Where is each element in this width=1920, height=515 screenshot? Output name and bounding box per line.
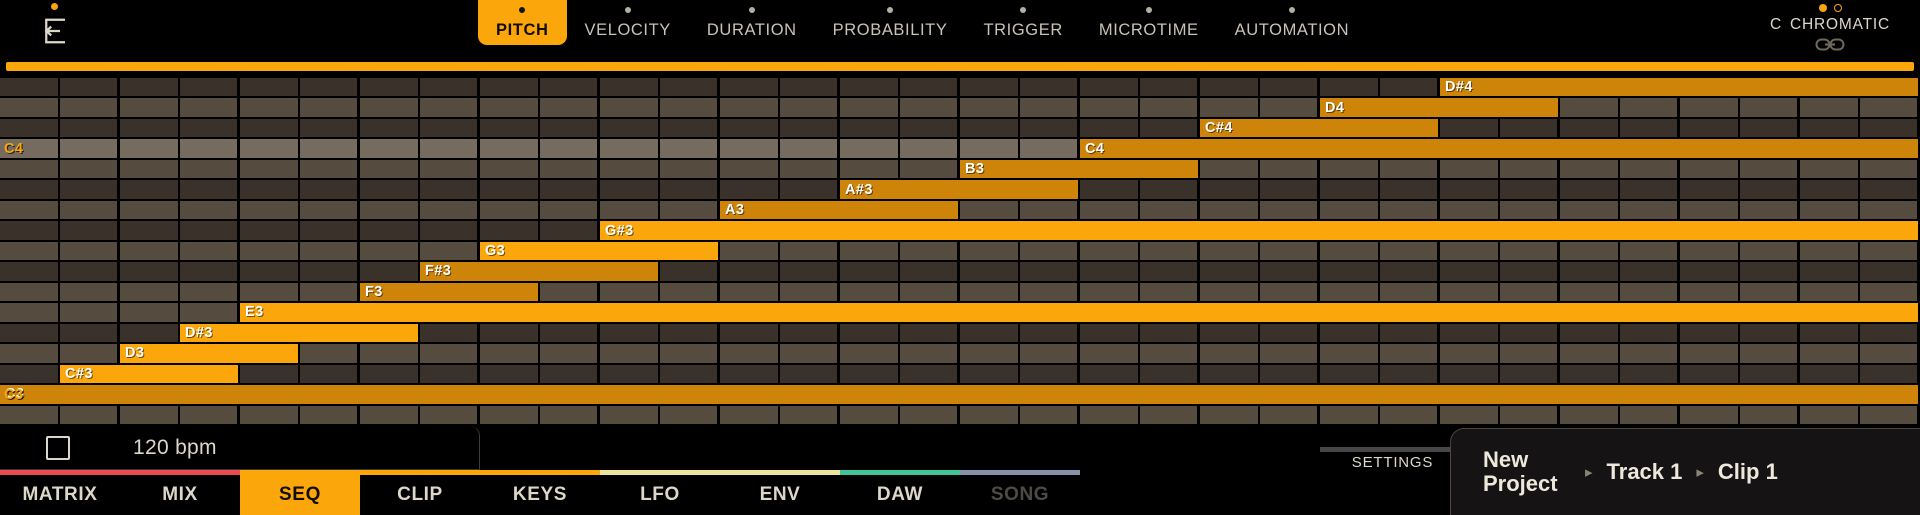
grid-cell[interactable] [660, 160, 721, 180]
note-block[interactable]: C#3 [60, 365, 238, 385]
grid-cell[interactable] [0, 406, 60, 426]
playhead-progress[interactable] [6, 62, 1914, 71]
grid-cell[interactable] [60, 98, 121, 118]
grid-cell[interactable] [1080, 344, 1140, 364]
grid-cell[interactable] [1020, 139, 1081, 159]
grid-cell[interactable] [1620, 180, 1681, 200]
grid-cell[interactable] [60, 242, 121, 262]
grid-cell[interactable] [1740, 324, 1801, 344]
grid-cell[interactable] [1200, 78, 1260, 98]
mode-tab-matrix[interactable]: MATRIX [0, 475, 120, 515]
grid-cell[interactable] [1020, 242, 1081, 262]
grid-cell[interactable] [960, 406, 1020, 426]
grid-cell[interactable] [960, 324, 1020, 344]
grid-cell[interactable] [1020, 78, 1081, 98]
grid-cell[interactable] [1560, 344, 1620, 364]
grid-cell[interactable] [420, 139, 481, 159]
grid-cell[interactable] [1080, 242, 1140, 262]
grid-cell[interactable] [60, 201, 121, 221]
grid-cell[interactable] [240, 365, 300, 385]
grid-row-C3[interactable]: C3C3 [0, 385, 1920, 405]
grid-cell[interactable] [1740, 283, 1801, 303]
grid-cell[interactable] [600, 160, 660, 180]
mode-tab-song[interactable]: SONG [960, 475, 1080, 515]
grid-cell[interactable] [1860, 242, 1920, 262]
grid-cell[interactable] [1260, 242, 1321, 262]
grid-cell[interactable] [360, 78, 420, 98]
grid-cell[interactable] [840, 119, 900, 139]
grid-cell[interactable] [1860, 262, 1920, 282]
grid-cell[interactable] [840, 98, 900, 118]
tab-automation[interactable]: AUTOMATION [1217, 0, 1367, 45]
grid-cell[interactable] [1560, 98, 1620, 118]
grid-cell[interactable] [1200, 262, 1260, 282]
grid-cell[interactable] [120, 160, 180, 180]
grid-cell[interactable] [1860, 283, 1920, 303]
grid-cell[interactable] [240, 406, 300, 426]
grid-cell[interactable] [1440, 365, 1500, 385]
mode-tab-daw[interactable]: DAW [840, 475, 960, 515]
grid-cell[interactable] [480, 201, 540, 221]
grid-cell[interactable] [480, 160, 540, 180]
grid-cell[interactable] [1800, 365, 1860, 385]
grid-cell[interactable] [720, 139, 780, 159]
grid-cell[interactable] [1800, 98, 1860, 118]
grid-cell[interactable] [480, 344, 540, 364]
grid-cell[interactable] [840, 344, 900, 364]
grid-cell[interactable] [0, 98, 60, 118]
grid-cell[interactable] [720, 406, 780, 426]
grid-cell[interactable] [1740, 201, 1801, 221]
grid-cell[interactable] [1320, 201, 1380, 221]
grid-row-B2[interactable] [0, 406, 1920, 426]
note-block[interactable]: D4 [1320, 98, 1558, 118]
grid-cell[interactable] [0, 78, 60, 98]
grid-cell[interactable] [1860, 365, 1920, 385]
grid-cell[interactable] [180, 406, 241, 426]
grid-cell[interactable] [900, 344, 961, 364]
grid-cell[interactable] [960, 139, 1020, 159]
tab-probability[interactable]: PROBABILITY [815, 0, 966, 45]
note-block[interactable]: F#3 [420, 262, 658, 282]
grid-cell[interactable] [0, 139, 60, 159]
grid-cell[interactable] [120, 78, 180, 98]
grid-cell[interactable] [780, 139, 841, 159]
grid-cell[interactable] [1080, 78, 1140, 98]
grid-cell[interactable] [1500, 242, 1561, 262]
grid-cell[interactable] [1260, 160, 1321, 180]
grid-cell[interactable] [0, 160, 60, 180]
grid-cell[interactable] [120, 139, 180, 159]
grid-cell[interactable] [540, 180, 601, 200]
grid-cell[interactable] [1260, 344, 1321, 364]
grid-row-Fsharp3[interactable]: F#3 [0, 262, 1920, 282]
grid-cell[interactable] [900, 283, 961, 303]
grid-cell[interactable] [60, 283, 121, 303]
grid-cell[interactable] [240, 98, 300, 118]
grid-cell[interactable] [1380, 344, 1441, 364]
grid-cell[interactable] [720, 78, 780, 98]
grid-cell[interactable] [1380, 324, 1441, 344]
grid-cell[interactable] [120, 406, 180, 426]
grid-cell[interactable] [420, 406, 481, 426]
grid-cell[interactable] [1320, 344, 1380, 364]
grid-cell[interactable] [1020, 283, 1081, 303]
grid-cell[interactable] [960, 78, 1020, 98]
grid-cell[interactable] [780, 180, 841, 200]
grid-cell[interactable] [1620, 283, 1681, 303]
grid-cell[interactable] [1440, 406, 1500, 426]
tab-velocity[interactable]: VELOCITY [567, 0, 689, 45]
grid-cell[interactable] [360, 180, 420, 200]
note-block[interactable]: C#4 [1200, 119, 1438, 139]
grid-cell[interactable] [660, 283, 721, 303]
grid-cell[interactable] [660, 180, 721, 200]
grid-cell[interactable] [660, 406, 721, 426]
grid-cell[interactable] [240, 221, 300, 241]
grid-cell[interactable] [1200, 160, 1260, 180]
grid-row-Gsharp3[interactable]: G#3 [0, 221, 1920, 241]
grid-cell[interactable] [180, 119, 241, 139]
grid-cell[interactable] [780, 344, 841, 364]
grid-cell[interactable] [1440, 119, 1500, 139]
grid-cell[interactable] [960, 242, 1020, 262]
mode-tab-mix[interactable]: MIX [120, 475, 240, 515]
grid-cell[interactable] [0, 303, 60, 323]
grid-cell[interactable] [1560, 324, 1620, 344]
grid-cell[interactable] [1260, 283, 1321, 303]
grid-cell[interactable] [420, 78, 481, 98]
grid-cell[interactable] [360, 406, 420, 426]
grid-cell[interactable] [1140, 365, 1201, 385]
grid-cell[interactable] [1860, 344, 1920, 364]
grid-cell[interactable] [60, 160, 121, 180]
grid-cell[interactable] [300, 242, 361, 262]
grid-cell[interactable] [180, 262, 241, 282]
grid-cell[interactable] [900, 324, 961, 344]
grid-cell[interactable] [0, 365, 60, 385]
grid-cell[interactable] [1140, 180, 1201, 200]
tab-pitch[interactable]: PITCH [478, 0, 567, 45]
grid-cell[interactable] [540, 160, 601, 180]
grid-cell[interactable] [1020, 98, 1081, 118]
grid-cell[interactable] [1740, 119, 1801, 139]
grid-cell[interactable] [480, 406, 540, 426]
grid-cell[interactable] [720, 119, 780, 139]
grid-cell[interactable] [0, 344, 60, 364]
grid-cell[interactable] [660, 262, 721, 282]
grid-cell[interactable] [780, 160, 841, 180]
grid-cell[interactable] [720, 262, 780, 282]
grid-cell[interactable] [1500, 160, 1561, 180]
grid-cell[interactable] [0, 283, 60, 303]
grid-cell[interactable] [1560, 119, 1620, 139]
grid-cell[interactable] [1680, 324, 1740, 344]
grid-cell[interactable] [1800, 119, 1860, 139]
grid-cell[interactable] [720, 365, 780, 385]
grid-cell[interactable] [540, 324, 601, 344]
grid-cell[interactable] [720, 242, 780, 262]
grid-cell[interactable] [960, 119, 1020, 139]
tab-trigger[interactable]: TRIGGER [965, 0, 1080, 45]
grid-cell[interactable] [480, 78, 540, 98]
grid-cell[interactable] [1800, 201, 1860, 221]
grid-cell[interactable] [900, 242, 961, 262]
grid-cell[interactable] [180, 180, 241, 200]
grid-cell[interactable] [60, 303, 121, 323]
grid-cell[interactable] [840, 160, 900, 180]
grid-cell[interactable] [1200, 242, 1260, 262]
grid-cell[interactable] [1560, 180, 1620, 200]
grid-cell[interactable] [1260, 98, 1321, 118]
mode-tab-clip[interactable]: CLIP [360, 475, 480, 515]
grid-cell[interactable] [360, 160, 420, 180]
grid-cell[interactable] [1740, 344, 1801, 364]
grid-cell[interactable] [1260, 262, 1321, 282]
grid-row-F3[interactable]: F3 [0, 283, 1920, 303]
grid-cell[interactable] [420, 119, 481, 139]
grid-cell[interactable] [1860, 406, 1920, 426]
grid-cell[interactable] [840, 406, 900, 426]
grid-cell[interactable] [1500, 201, 1561, 221]
grid-cell[interactable] [1200, 365, 1260, 385]
grid-cell[interactable] [1320, 242, 1380, 262]
grid-cell[interactable] [1320, 324, 1380, 344]
grid-cell[interactable] [480, 139, 540, 159]
grid-cell[interactable] [540, 98, 601, 118]
grid-cell[interactable] [900, 98, 961, 118]
stop-square-icon[interactable] [46, 436, 70, 460]
grid-cell[interactable] [660, 201, 721, 221]
grid-cell[interactable] [1680, 201, 1740, 221]
grid-cell[interactable] [1740, 180, 1801, 200]
grid-cell[interactable] [1860, 180, 1920, 200]
grid-cell[interactable] [540, 365, 601, 385]
grid-cell[interactable] [780, 78, 841, 98]
grid-cell[interactable] [1440, 160, 1500, 180]
grid-cell[interactable] [300, 98, 361, 118]
grid-cell[interactable] [840, 78, 900, 98]
note-block[interactable]: C3 [0, 385, 1918, 405]
grid-cell[interactable] [0, 201, 60, 221]
grid-cell[interactable] [900, 406, 961, 426]
grid-cell[interactable] [1680, 242, 1740, 262]
grid-cell[interactable] [540, 344, 601, 364]
grid-cell[interactable] [1440, 324, 1500, 344]
grid-cell[interactable] [660, 119, 721, 139]
grid-cell[interactable] [120, 201, 180, 221]
grid-cell[interactable] [780, 406, 841, 426]
grid-cell[interactable] [600, 365, 660, 385]
grid-cell[interactable] [720, 324, 780, 344]
grid-cell[interactable] [180, 98, 241, 118]
grid-cell[interactable] [1560, 406, 1620, 426]
grid-cell[interactable] [1680, 262, 1740, 282]
grid-cell[interactable] [1260, 406, 1321, 426]
grid-cell[interactable] [1620, 98, 1681, 118]
grid-cell[interactable] [600, 78, 660, 98]
grid-cell[interactable] [1620, 262, 1681, 282]
grid-cell[interactable] [1440, 180, 1500, 200]
note-block[interactable]: G#3 [600, 221, 1918, 241]
grid-cell[interactable] [1140, 324, 1201, 344]
grid-cell[interactable] [1620, 365, 1681, 385]
grid-cell[interactable] [1020, 201, 1081, 221]
grid-cell[interactable] [420, 160, 481, 180]
grid-cell[interactable] [1860, 119, 1920, 139]
grid-cell[interactable] [60, 180, 121, 200]
tab-duration[interactable]: DURATION [689, 0, 815, 45]
grid-cell[interactable] [1140, 242, 1201, 262]
grid-cell[interactable] [1080, 324, 1140, 344]
grid-cell[interactable] [1500, 262, 1561, 282]
grid-row-E3[interactable]: E3 [0, 303, 1920, 323]
grid-cell[interactable] [1200, 201, 1260, 221]
grid-cell[interactable] [1680, 344, 1740, 364]
grid-cell[interactable] [300, 78, 361, 98]
grid-cell[interactable] [720, 180, 780, 200]
grid-cell[interactable] [1800, 242, 1860, 262]
grid-cell[interactable] [420, 98, 481, 118]
grid-cell[interactable] [300, 406, 361, 426]
grid-cell[interactable] [1860, 324, 1920, 344]
grid-cell[interactable] [720, 283, 780, 303]
grid-cell[interactable] [1080, 406, 1140, 426]
grid-cell[interactable] [900, 119, 961, 139]
grid-cell[interactable] [1140, 119, 1201, 139]
grid-row-Dsharp3[interactable]: D#3 [0, 324, 1920, 344]
grid-cell[interactable] [1020, 365, 1081, 385]
grid-cell[interactable] [1560, 262, 1620, 282]
grid-cell[interactable] [1380, 406, 1441, 426]
grid-cell[interactable] [1560, 283, 1620, 303]
link-chain-icon[interactable] [1750, 37, 1910, 52]
grid-cell[interactable] [1500, 406, 1561, 426]
grid-cell[interactable] [1080, 201, 1140, 221]
grid-cell[interactable] [1560, 365, 1620, 385]
grid-cell[interactable] [1800, 160, 1860, 180]
grid-cell[interactable] [1080, 283, 1140, 303]
grid-cell[interactable] [420, 365, 481, 385]
grid-cell[interactable] [60, 78, 121, 98]
grid-cell[interactable] [300, 283, 361, 303]
grid-cell[interactable] [1680, 283, 1740, 303]
grid-cell[interactable] [420, 324, 481, 344]
grid-cell[interactable] [720, 160, 780, 180]
grid-cell[interactable] [420, 242, 481, 262]
grid-cell[interactable] [1440, 283, 1500, 303]
grid-cell[interactable] [900, 160, 961, 180]
grid-cell[interactable] [60, 324, 121, 344]
grid-cell[interactable] [1140, 344, 1201, 364]
grid-cell[interactable] [840, 139, 900, 159]
grid-cell[interactable] [600, 324, 660, 344]
grid-cell[interactable] [540, 201, 601, 221]
grid-cell[interactable] [1740, 365, 1801, 385]
grid-cell[interactable] [720, 98, 780, 118]
grid-cell[interactable] [1500, 283, 1561, 303]
grid-cell[interactable] [960, 283, 1020, 303]
grid-cell[interactable] [660, 324, 721, 344]
grid-cell[interactable] [1680, 160, 1740, 180]
grid-cell[interactable] [300, 139, 361, 159]
grid-cell[interactable] [360, 221, 420, 241]
grid-cell[interactable] [420, 201, 481, 221]
grid-cell[interactable] [780, 242, 841, 262]
note-block[interactable]: C4 [1080, 139, 1918, 159]
grid-cell[interactable] [1320, 262, 1380, 282]
grid-cell[interactable] [1140, 262, 1201, 282]
grid-cell[interactable] [60, 119, 121, 139]
grid-cell[interactable] [1440, 344, 1500, 364]
grid-cell[interactable] [300, 160, 361, 180]
grid-cell[interactable] [1320, 283, 1380, 303]
grid-cell[interactable] [180, 78, 241, 98]
grid-cell[interactable] [1020, 262, 1081, 282]
grid-cell[interactable] [60, 221, 121, 241]
grid-cell[interactable] [1320, 406, 1380, 426]
grid-cell[interactable] [1440, 242, 1500, 262]
grid-cell[interactable] [360, 139, 420, 159]
grid-row-D3[interactable]: D3 [0, 344, 1920, 364]
bpm-value[interactable]: 120 bpm [133, 436, 217, 460]
grid-cell[interactable] [1200, 344, 1260, 364]
grid-cell[interactable] [360, 201, 420, 221]
grid-cell[interactable] [240, 242, 300, 262]
grid-cell[interactable] [960, 262, 1020, 282]
grid-cell[interactable] [1800, 324, 1860, 344]
grid-cell[interactable] [600, 119, 660, 139]
grid-cell[interactable] [300, 221, 361, 241]
grid-cell[interactable] [600, 201, 660, 221]
grid-cell[interactable] [1380, 242, 1441, 262]
grid-cell[interactable] [180, 160, 241, 180]
grid-cell[interactable] [960, 98, 1020, 118]
grid-cell[interactable] [840, 324, 900, 344]
grid-cell[interactable] [900, 365, 961, 385]
grid-cell[interactable] [1260, 78, 1321, 98]
grid-cell[interactable] [300, 262, 361, 282]
grid-cell[interactable] [240, 201, 300, 221]
grid-cell[interactable] [1740, 242, 1801, 262]
grid-cell[interactable] [1440, 262, 1500, 282]
grid-cell[interactable] [360, 119, 420, 139]
grid-row-Asharp3[interactable]: A#3 [0, 180, 1920, 200]
grid-cell[interactable] [1320, 78, 1380, 98]
grid-cell[interactable] [1680, 365, 1740, 385]
grid-cell[interactable] [240, 180, 300, 200]
grid-cell[interactable] [780, 119, 841, 139]
grid-cell[interactable] [540, 283, 601, 303]
grid-cell[interactable] [1440, 201, 1500, 221]
grid-cell[interactable] [1020, 344, 1081, 364]
grid-cell[interactable] [1800, 283, 1860, 303]
grid-cell[interactable] [1560, 201, 1620, 221]
grid-cell[interactable] [900, 139, 961, 159]
scale-selector[interactable]: CCHROMATIC [1750, 2, 1910, 52]
grid-cell[interactable] [600, 180, 660, 200]
grid-cell[interactable] [120, 262, 180, 282]
grid-cell[interactable] [1800, 262, 1860, 282]
grid-cell[interactable] [480, 180, 540, 200]
grid-cell[interactable] [60, 139, 121, 159]
grid-cell[interactable] [1380, 262, 1441, 282]
grid-cell[interactable] [1380, 160, 1441, 180]
grid-cell[interactable] [1200, 324, 1260, 344]
playhead-track[interactable] [0, 60, 1920, 73]
grid-cell[interactable] [1380, 78, 1441, 98]
grid-cell[interactable] [900, 262, 961, 282]
